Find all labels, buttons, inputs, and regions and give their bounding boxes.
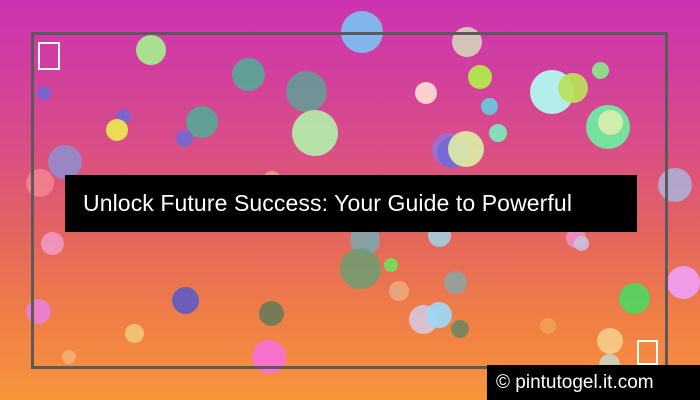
title-banner: Unlock Future Success: Your Guide to Pow… (65, 175, 637, 232)
watermark-bar: © pintutogel.it.com (487, 365, 700, 400)
corner-marker-bottom-right (637, 340, 658, 365)
watermark-label: © pintutogel.it.com (487, 372, 654, 394)
bubble-circle (667, 266, 700, 299)
corner-marker-top-left (38, 42, 60, 70)
promo-banner-canvas: Unlock Future Success: Your Guide to Pow… (0, 0, 700, 400)
page-title: Unlock Future Success: Your Guide to Pow… (65, 190, 572, 217)
